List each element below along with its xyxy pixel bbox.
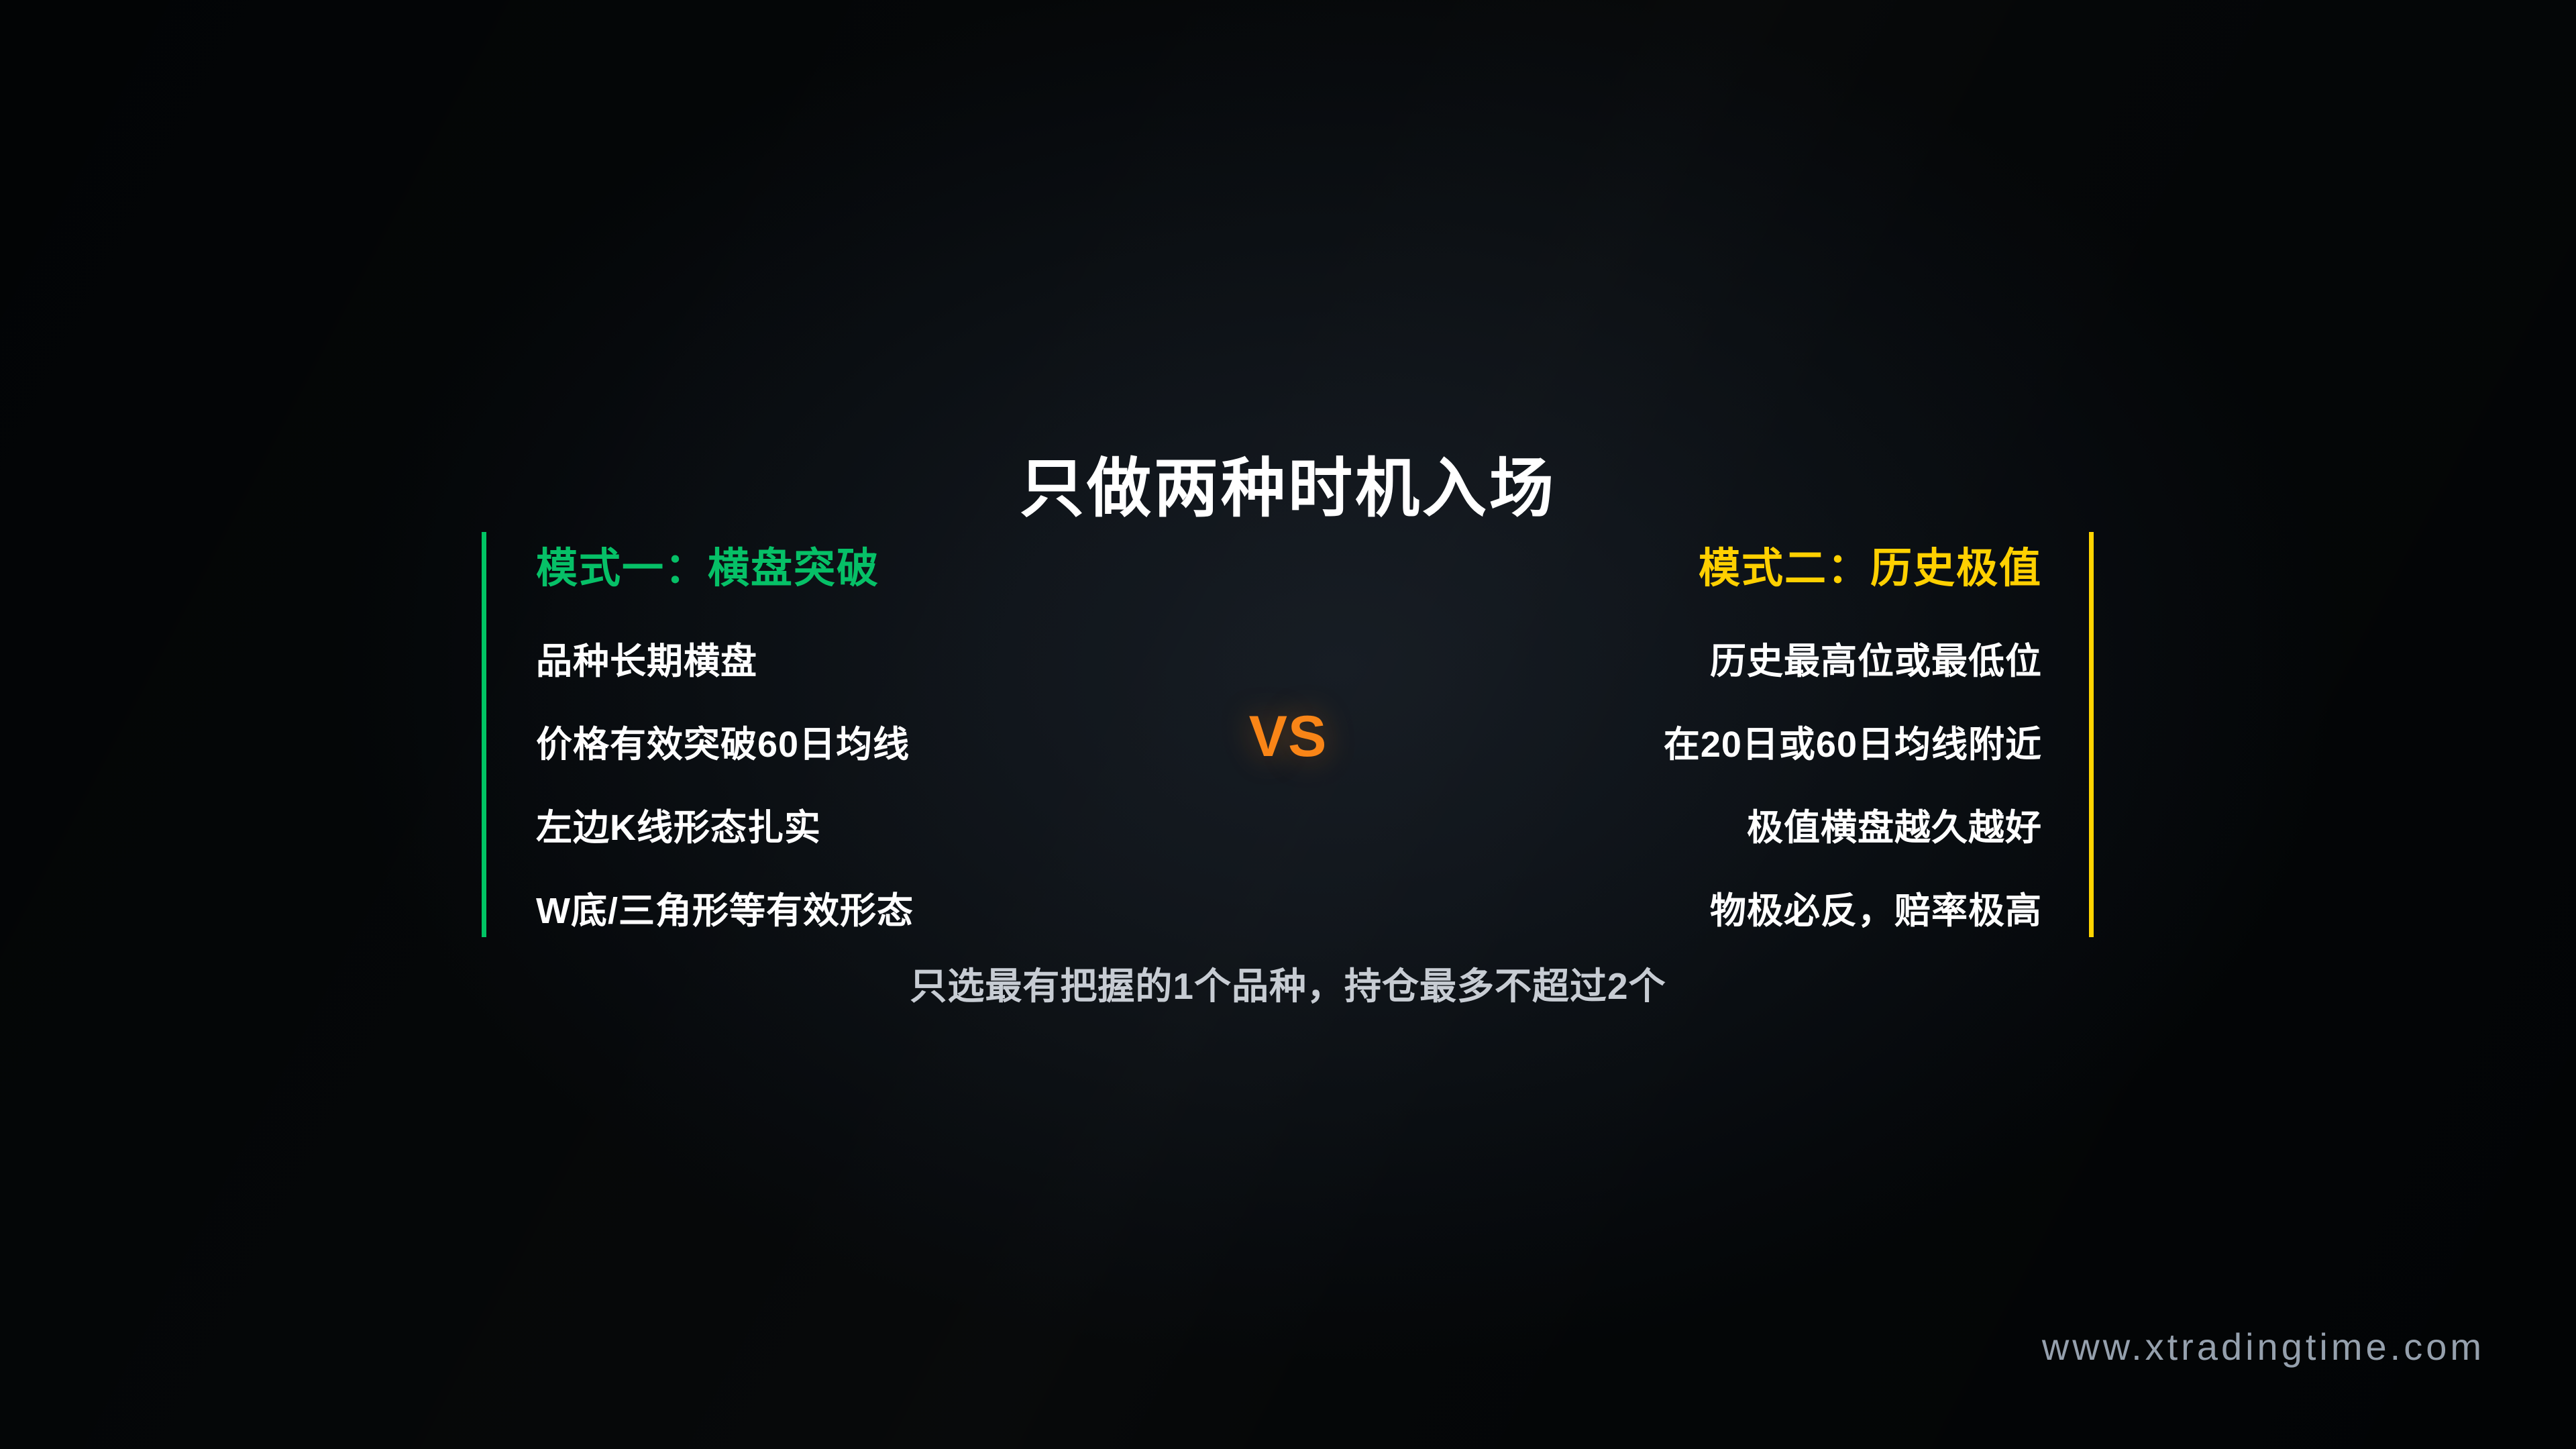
- list-item: 物极必反，赔率极高: [1385, 893, 2042, 929]
- slide-canvas: 只做两种时机入场 模式一：横盘突破 品种长期横盘 价格有效突破60日均线 左边K…: [0, 0, 2576, 1449]
- mode-one-list: 品种长期横盘 价格有效突破60日均线 左边K线形态扎实 W底/三角形等有效形态: [536, 643, 1186, 929]
- slide-content: 只做两种时机入场 模式一：横盘突破 品种长期横盘 价格有效突破60日均线 左边K…: [0, 0, 2576, 1449]
- mode-two-list: 历史最高位或最低位 在20日或60日均线附近 极值横盘越久越好 物极必反，赔率极…: [1385, 643, 2042, 929]
- list-item: 极值横盘越久越好: [1385, 810, 2042, 846]
- versus-label: VS: [1187, 708, 1389, 765]
- list-item: 在20日或60日均线附近: [1385, 727, 2042, 763]
- list-item: 价格有效突破60日均线: [536, 727, 1186, 763]
- mode-two-heading: 模式二：历史极值: [1385, 532, 2042, 590]
- site-watermark: www.xtradingtime.com: [2042, 1328, 2485, 1366]
- list-item: 品种长期横盘: [536, 643, 1186, 680]
- list-item: 左边K线形态扎实: [536, 810, 1186, 846]
- list-item: 历史最高位或最低位: [1385, 643, 2042, 680]
- footer-note: 只选最有把握的1个品种，持仓最多不超过2个: [0, 968, 2576, 1005]
- page-title: 只做两种时机入场: [0, 451, 2576, 527]
- mode-one-heading: 模式一：横盘突破: [536, 532, 1186, 590]
- mode-one-column: 模式一：横盘突破 品种长期横盘 价格有效突破60日均线 左边K线形态扎实 W底/…: [482, 532, 1186, 937]
- list-item: W底/三角形等有效形态: [536, 893, 1186, 929]
- mode-two-column: 模式二：历史极值 历史最高位或最低位 在20日或60日均线附近 极值横盘越久越好…: [1385, 532, 2094, 937]
